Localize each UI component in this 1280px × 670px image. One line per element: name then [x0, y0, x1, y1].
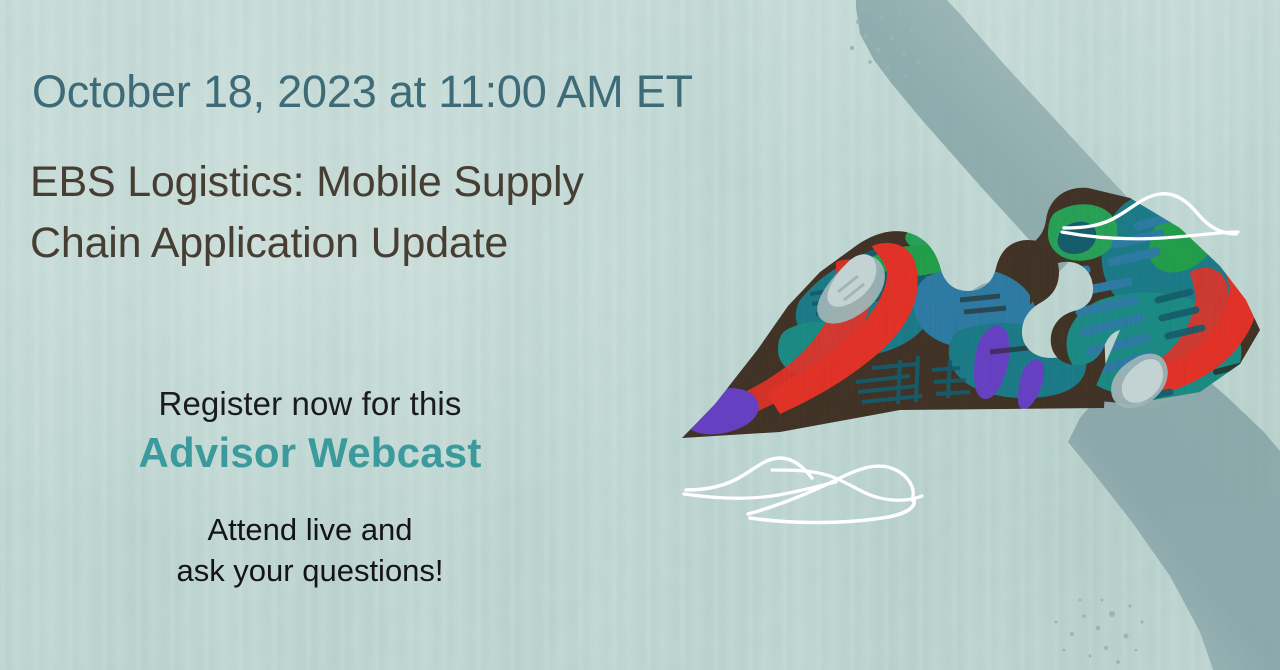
- webcast-promo-banner: October 18, 2023 at 11:00 AM ET EBS Logi…: [0, 0, 1280, 670]
- cta-subtext: Attend live and ask your questions!: [0, 509, 620, 591]
- event-title-line-1: EBS Logistics: Mobile Supply: [30, 152, 710, 213]
- event-date-time: October 18, 2023 at 11:00 AM ET: [32, 68, 693, 115]
- cta-lead-in: Register now for this: [0, 386, 620, 423]
- cta-subtext-line-1: Attend live and: [0, 509, 620, 550]
- hands-puzzle-illustration: [660, 0, 1280, 670]
- cta-headline: Advisor Webcast: [0, 429, 620, 476]
- cta-subtext-line-2: ask your questions!: [0, 550, 620, 591]
- arm-dissolve-speckles-lower: [1055, 599, 1144, 664]
- event-title-line-2: Chain Application Update: [30, 213, 710, 274]
- event-title: EBS Logistics: Mobile Supply Chain Appli…: [30, 152, 710, 274]
- call-to-action-block: Register now for this Advisor Webcast At…: [0, 386, 620, 591]
- text-column: October 18, 2023 at 11:00 AM ET EBS Logi…: [0, 0, 720, 670]
